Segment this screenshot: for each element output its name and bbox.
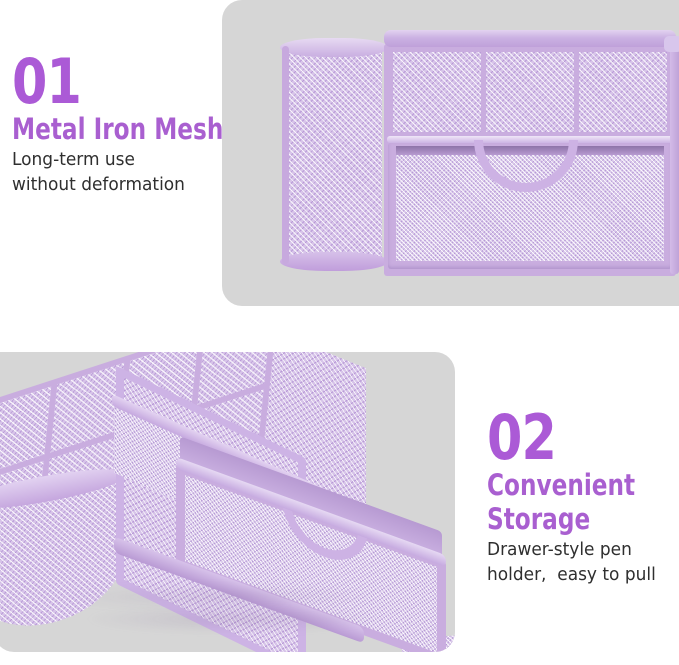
feature-block-01: 01 Metal Iron Mesh Long-term use without…: [12, 52, 217, 198]
organizer-right-rail-cap: [664, 36, 679, 52]
feature-title-02-line1: Convenient: [487, 470, 639, 500]
feature-description-01: Long-term use without deformation: [12, 148, 211, 198]
organizer-body: [384, 30, 676, 280]
product-photo-panel-angled: [0, 352, 455, 652]
feature-description-line: without deformation: [12, 173, 211, 198]
pen-cup-left-edge: [282, 46, 289, 264]
feature-description-line: Drawer-style pen: [487, 538, 671, 563]
feature-title-02-line2: Storage: [487, 504, 639, 534]
pen-cup-top-rim: [280, 38, 388, 57]
compartment-cell: [393, 52, 481, 132]
feature-number-02: 02: [487, 408, 643, 468]
feature-number-01: 01: [12, 52, 180, 112]
organizer-right-edge: [670, 46, 679, 274]
pen-cup-bottom-rim: [280, 252, 388, 271]
feature-description-line: Long-term use: [12, 148, 211, 173]
pen-cup-mesh: [284, 48, 382, 263]
compartment-cell: [486, 52, 574, 132]
product-organizer-angled-view: [0, 352, 455, 652]
drawer-closed: [388, 143, 672, 269]
feature-block-02: 02 Convenient Storage Drawer-style pen h…: [487, 408, 677, 588]
product-photo-panel-front: [222, 0, 679, 306]
feature-description-line: holder, easy to pull: [487, 563, 671, 588]
product-organizer-front-view: [284, 30, 676, 280]
feature-title-01: Metal Iron Mesh: [12, 114, 176, 144]
upper-compartments: [393, 52, 667, 132]
contact-shadow: [84, 604, 384, 634]
infographic-stage: 01 Metal Iron Mesh Long-term use without…: [0, 0, 679, 665]
compartment-cell: [579, 52, 667, 132]
feature-description-02: Drawer-style pen holder, easy to pull: [487, 538, 671, 588]
organizer-top-rail: [384, 30, 676, 47]
grid-cell: [0, 386, 51, 476]
